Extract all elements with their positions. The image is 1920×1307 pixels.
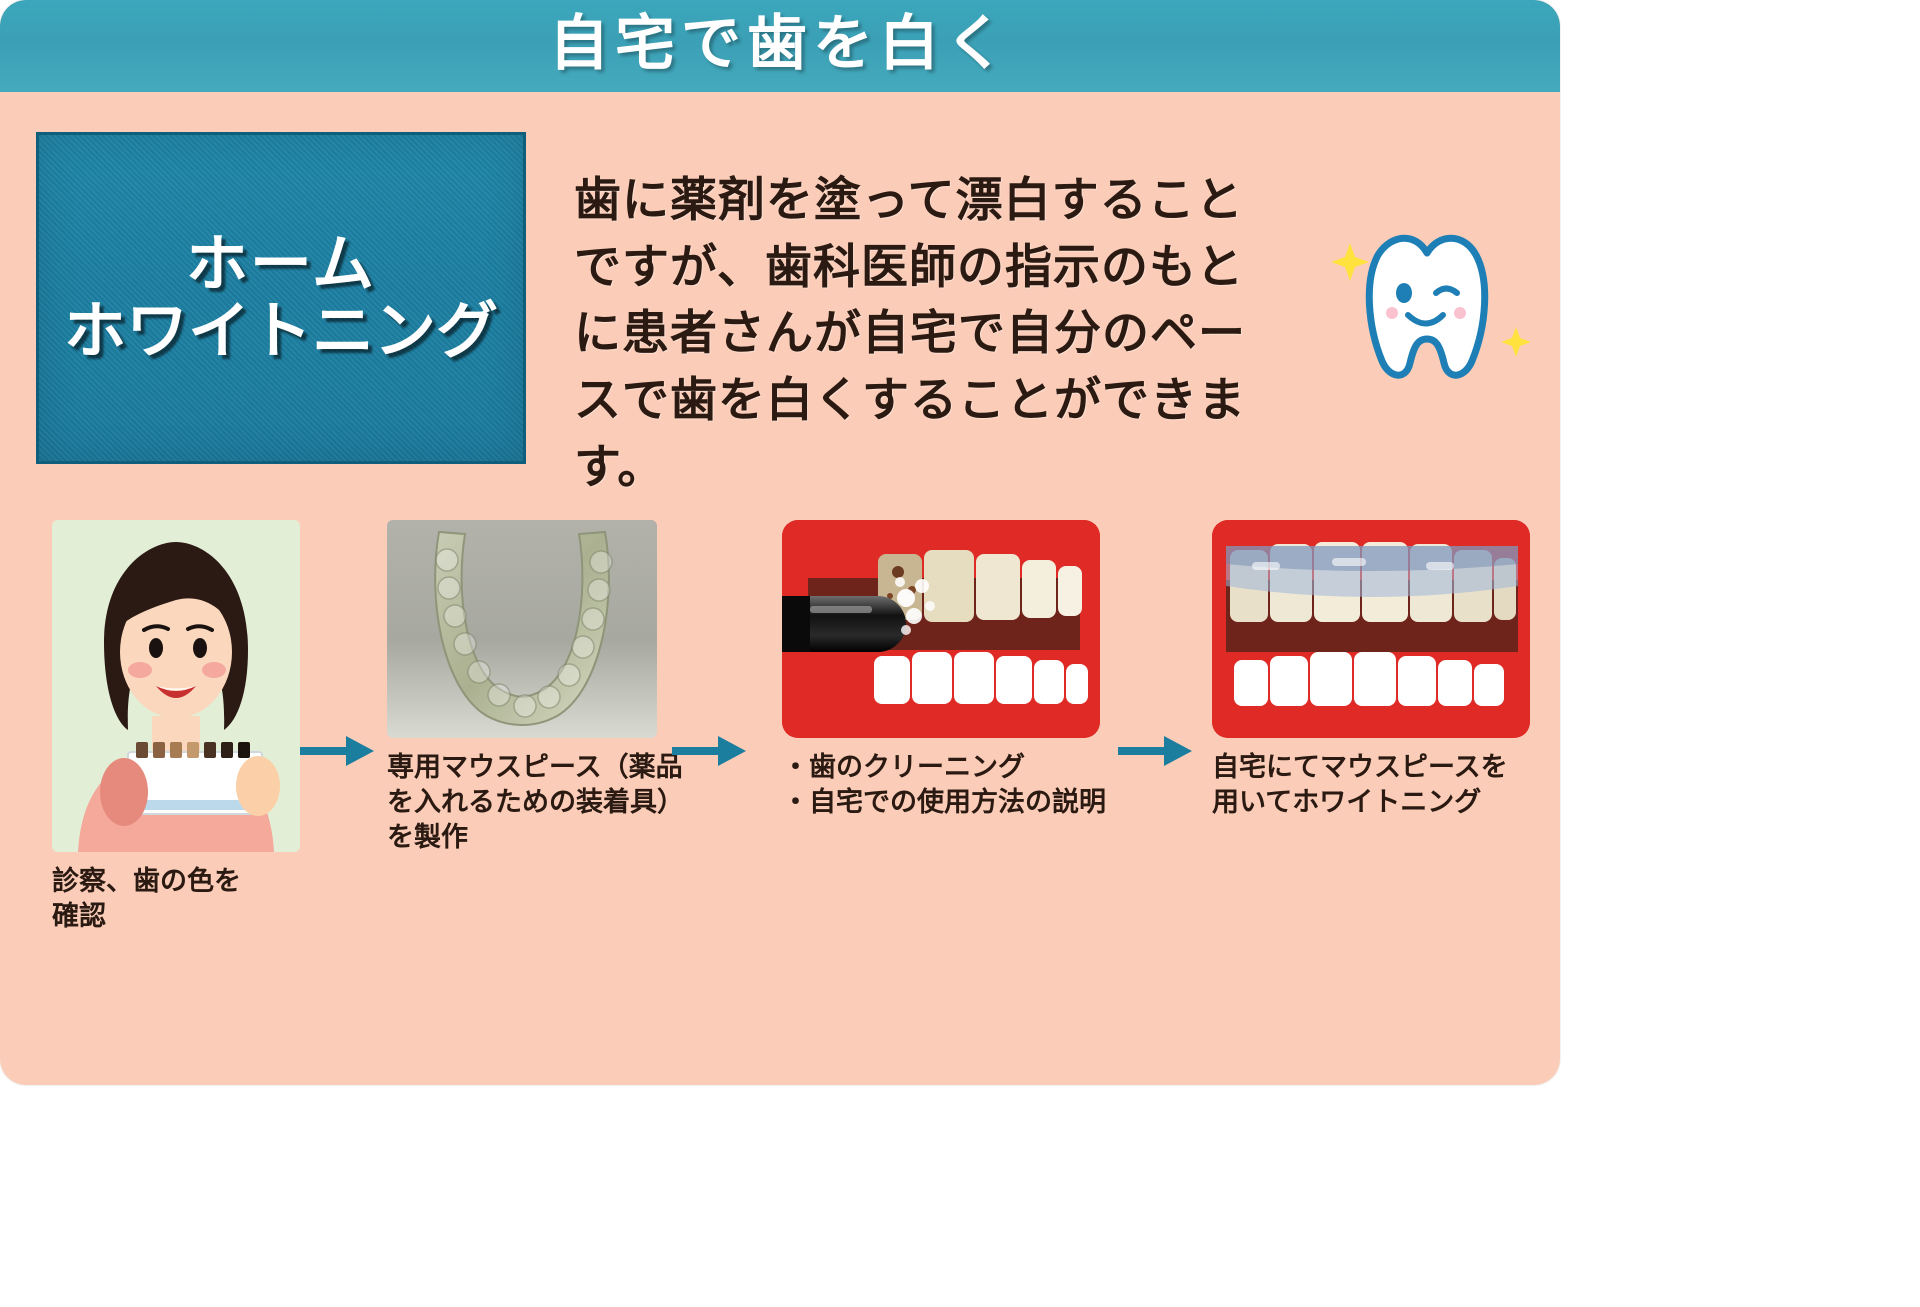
step-2-caption: 専用マウスピース（薬品 を入れるための装着具） を製作 — [387, 750, 687, 855]
arrow-1-icon — [300, 734, 376, 768]
home-whitening-label-box: ホーム ホワイトニング — [36, 132, 526, 464]
poster-card: 自宅で歯を白く ホーム ホワイトニング 歯に薬剤を塗って漂白することですが、歯科… — [0, 0, 1560, 1085]
arrow-2-icon — [672, 734, 748, 768]
step-4-caption: 自宅にてマウスピースを 用いてホワイトニング — [1212, 750, 1542, 820]
custom-mouthpiece-photo — [387, 520, 657, 738]
step-2: 専用マウスピース（薬品 を入れるための装着具） を製作 — [387, 520, 687, 855]
step-4: 自宅にてマウスピースを 用いてホワイトニング — [1212, 520, 1542, 820]
step-1: 診察、歯の色を 確認 — [52, 520, 312, 934]
label-box-line-1: ホーム — [186, 231, 376, 298]
process-steps: 診察、歯の色を 確認 — [0, 520, 1560, 1040]
patient-shade-guide-illustration — [52, 520, 300, 852]
home-whitening-illustration — [1212, 520, 1530, 738]
sparkle-icon — [1331, 243, 1369, 281]
lead-paragraph: 歯に薬剤を塗って漂白することですが、歯科医師の指示のもとに患者さんが自宅で自分の… — [574, 168, 1274, 502]
header-banner: 自宅で歯を白く — [0, 0, 1560, 92]
cheek-blush — [1454, 307, 1466, 319]
cheek-blush — [1386, 307, 1398, 319]
step-3: ・歯のクリーニング ・自宅での使用方法の説明 — [782, 520, 1112, 820]
winking-tooth-icon — [1320, 215, 1530, 405]
label-box-line-2: ホワイトニング — [64, 298, 498, 365]
eye-open — [1396, 283, 1412, 303]
step-3-caption: ・歯のクリーニング ・自宅での使用方法の説明 — [782, 750, 1112, 820]
arrow-3-icon — [1118, 734, 1194, 768]
teeth-cleaning-illustration — [782, 520, 1100, 738]
page-title: 自宅で歯を白く — [549, 14, 1011, 78]
sparkle-icon — [1501, 327, 1530, 357]
step-1-caption: 診察、歯の色を 確認 — [52, 864, 312, 934]
